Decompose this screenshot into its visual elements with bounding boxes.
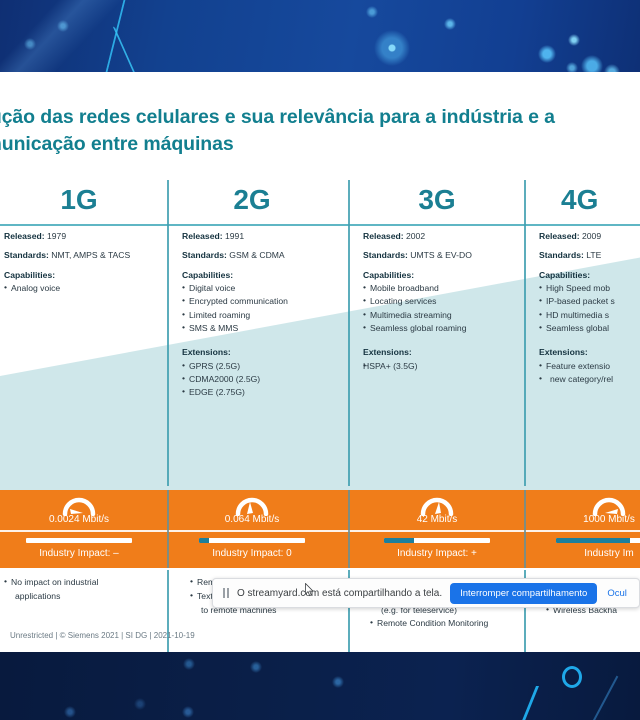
list-item: Multimedia streaming xyxy=(363,309,513,322)
list-item: No impact on industrial xyxy=(4,576,162,590)
standards-label: Standards: xyxy=(4,250,49,260)
slide-title: volução das redes celulares e sua relevâ… xyxy=(0,104,640,158)
standards-label: Standards: xyxy=(539,250,584,260)
list-item: High Speed mob xyxy=(539,282,640,295)
list-item: Locating services xyxy=(363,295,513,308)
released-label: Released: xyxy=(539,231,580,241)
list-item: GPRS (2.5G) xyxy=(182,360,324,373)
list-item: Encrypted communication xyxy=(182,295,324,308)
circuit-trace-icon xyxy=(522,686,539,720)
list-item: HD multimedia s xyxy=(539,309,640,322)
speed-value: 0.0024 Mbit/s xyxy=(0,514,168,525)
list-item: Mobile broadband xyxy=(363,282,513,295)
standards-label: Standards: xyxy=(182,250,227,260)
industry-impact-label: Industry Impact: – xyxy=(0,548,168,559)
speed-value: 0.064 Mbit/s xyxy=(168,514,336,525)
list-item: HSPA+ (3.5G) xyxy=(363,360,513,373)
generation-details: Released: 2009 Standards: LTE Capabiliti… xyxy=(525,230,640,386)
released-label: Released: xyxy=(4,231,45,241)
impact-list-1g: No impact on industrial applications xyxy=(0,576,168,604)
list-item: IP-based packet s xyxy=(539,295,640,308)
extensions-label: Extensions: xyxy=(539,346,640,359)
generation-label: 3G xyxy=(349,184,525,216)
bottom-decorative-banner xyxy=(0,652,640,720)
screen-capture-window: volução das redes celulares e sua relevâ… xyxy=(0,0,640,720)
list-item: Analog voice xyxy=(4,282,156,295)
slide-footer: Unrestricted | © Siemens 2021 | SI DG | … xyxy=(10,631,195,640)
capabilities-label: Capabilities: xyxy=(4,269,156,282)
list-item: Seamless global roaming xyxy=(363,322,513,335)
released-value: 2009 xyxy=(582,231,601,241)
list-item: Limited roaming xyxy=(182,309,324,322)
released-value: 1991 xyxy=(225,231,244,241)
speed-value: 1000 Mbit/s xyxy=(525,514,640,525)
circuit-trace-icon xyxy=(584,676,619,720)
released-label: Released: xyxy=(363,231,404,241)
gauge-icon xyxy=(591,494,627,516)
capabilities-list: Digital voice Encrypted communication Li… xyxy=(182,282,324,335)
generation-label: 2G xyxy=(168,184,336,216)
generation-label: 4G xyxy=(525,184,640,216)
gauge-icon xyxy=(419,494,455,516)
speed-cell-4g: 1000 Mbit/s Industry Im xyxy=(525,490,640,568)
standards-value: NMT, AMPS & TACS xyxy=(51,250,130,260)
list-item: new category/rel xyxy=(539,373,640,386)
capabilities-label: Capabilities: xyxy=(182,269,324,282)
extensions-list: Feature extensio new category/rel xyxy=(539,360,640,387)
impact-meter xyxy=(26,538,132,543)
speed-value: 42 Mbit/s xyxy=(349,514,525,525)
standards-label: Standards: xyxy=(363,250,408,260)
capabilities-list: High Speed mob IP-based packet s HD mult… xyxy=(539,282,640,335)
industry-impact-label: Industry Impact: + xyxy=(349,548,525,559)
released-value: 2002 xyxy=(406,231,425,241)
speed-cell-1g: 0.0024 Mbit/s Industry Impact: – xyxy=(0,490,168,568)
impact-meter xyxy=(199,538,305,543)
released-label: Released: xyxy=(182,231,223,241)
hide-button[interactable]: Ocul xyxy=(605,584,629,603)
capabilities-list: Analog voice xyxy=(4,282,156,295)
list-item: Feature extensio xyxy=(539,360,640,373)
share-status-text: O streamyard.com está compartilhando a t… xyxy=(237,588,442,599)
gauge-icon xyxy=(234,494,270,516)
extensions-list: HSPA+ (3.5G) xyxy=(363,360,513,373)
list-item: CDMA2000 (2.5G) xyxy=(182,373,324,386)
industry-impact-label: Industry Im xyxy=(525,548,640,559)
generation-details: Released: 1979 Standards: NMT, AMPS & TA… xyxy=(0,230,168,295)
extensions-list: GPRS (2.5G) CDMA2000 (2.5G) EDGE (2.75G) xyxy=(182,360,324,400)
list-item: SMS & MMS xyxy=(182,322,324,335)
generation-details: Released: 1991 Standards: GSM & CDMA Cap… xyxy=(168,230,336,399)
stop-sharing-button[interactable]: Interromper compartilhamento xyxy=(450,583,597,604)
presentation-slide: volução das redes celulares e sua relevâ… xyxy=(0,72,640,652)
impact-meter-fill xyxy=(384,538,414,543)
impact-meter xyxy=(556,538,640,543)
impact-meter-fill xyxy=(556,538,630,543)
speed-impact-band: 0.0024 Mbit/s Industry Impact: – 0.064 M… xyxy=(0,490,640,568)
list-item: Remote Condition Monitoring xyxy=(370,617,522,631)
gauge-icon xyxy=(61,494,97,516)
top-decorative-banner xyxy=(0,0,640,72)
extensions-label: Extensions: xyxy=(182,346,324,359)
circuit-node-icon xyxy=(562,666,582,688)
list-item: applications xyxy=(4,590,162,604)
generation-details: Released: 2002 Standards: UMTS & EV-DO C… xyxy=(349,230,525,373)
speed-cell-2g: 0.064 Mbit/s Industry Impact: 0 xyxy=(168,490,336,568)
list-item: Digital voice xyxy=(182,282,324,295)
generation-label: 1G xyxy=(0,184,168,216)
extensions-label: Extensions: xyxy=(363,346,513,359)
pause-icon[interactable] xyxy=(223,588,229,598)
speed-cell-3g: 42 Mbit/s Industry Impact: + xyxy=(349,490,525,568)
impact-meter xyxy=(384,538,490,543)
released-value: 1979 xyxy=(47,231,66,241)
impact-meter-fill xyxy=(199,538,209,543)
capabilities-label: Capabilities: xyxy=(363,269,513,282)
standards-value: UMTS & EV-DO xyxy=(410,250,472,260)
list-item: EDGE (2.75G) xyxy=(182,386,324,399)
capabilities-label: Capabilities: xyxy=(539,269,640,282)
standards-value: LTE xyxy=(586,250,601,260)
list-item: Seamless global xyxy=(539,322,640,335)
screen-share-notification-bar: O streamyard.com está compartilhando a t… xyxy=(212,578,640,608)
capabilities-list: Mobile broadband Locating services Multi… xyxy=(363,282,513,335)
industry-impact-label: Industry Impact: 0 xyxy=(168,548,336,559)
standards-value: GSM & CDMA xyxy=(229,250,284,260)
